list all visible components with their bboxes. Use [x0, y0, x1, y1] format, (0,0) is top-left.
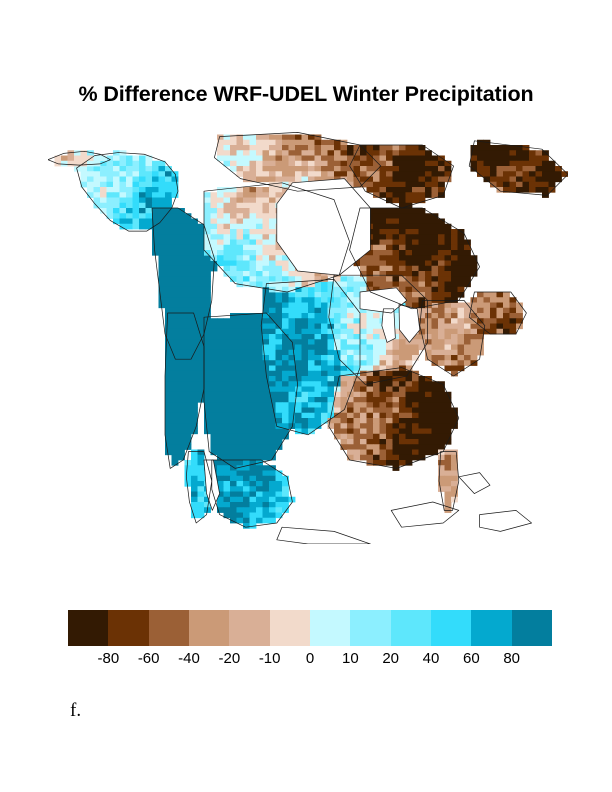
colorbar-tick-label: -60	[138, 650, 160, 667]
colorbar-swatch	[229, 610, 269, 646]
page-title: % Difference WRF-UDEL Winter Precipitati…	[0, 82, 612, 107]
colorbar-swatch	[431, 610, 471, 646]
precipitation-difference-map	[48, 124, 568, 544]
colorbar-tick-label: -40	[178, 650, 200, 667]
colorbar-swatch	[189, 610, 229, 646]
colorbar-swatch	[471, 610, 511, 646]
map-plot-area	[48, 124, 568, 544]
colorbar-swatch	[149, 610, 189, 646]
colorbar-swatch	[512, 610, 552, 646]
colorbar-swatch	[108, 610, 148, 646]
colorbar-tick-label: 60	[463, 650, 480, 667]
colorbar-swatch	[270, 610, 310, 646]
colorbar-swatch	[391, 610, 431, 646]
colorbar-tick-label: 0	[306, 650, 314, 667]
colorbar-tick-labels: -80-60-40-20-1001020406080	[68, 650, 552, 672]
colorbar-swatch	[350, 610, 390, 646]
colorbar	[68, 610, 552, 646]
colorbar-tick-label: 80	[503, 650, 520, 667]
colorbar-tick-label: -80	[97, 650, 119, 667]
colorbar-tick-label: 10	[342, 650, 359, 667]
colorbar-tick-label: -20	[218, 650, 240, 667]
colorbar-tick-label: 20	[382, 650, 399, 667]
panel-label: f.	[70, 700, 81, 722]
figure-panel: % Difference WRF-UDEL Winter Precipitati…	[0, 0, 612, 792]
colorbar-tick-label: 40	[423, 650, 440, 667]
colorbar-swatch	[310, 610, 350, 646]
colorbar-swatch	[68, 610, 108, 646]
colorbar-tick-label: -10	[259, 650, 281, 667]
